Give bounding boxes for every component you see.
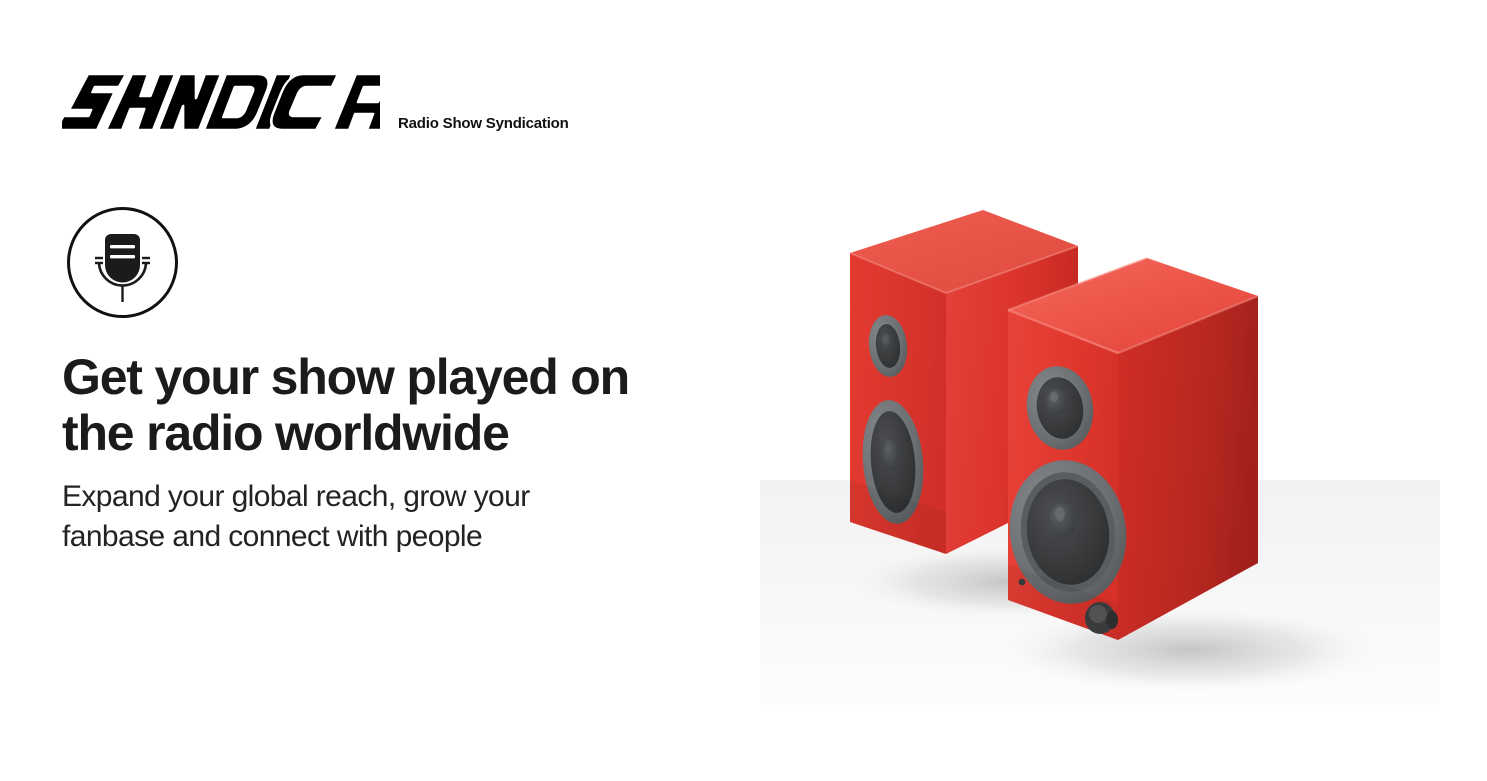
speaker-front (1001, 258, 1258, 640)
shadow-front (985, 604, 1395, 696)
microphone-icon (66, 206, 179, 319)
hero-subcopy-line-1: Expand your global reach, grow your (62, 480, 530, 513)
hero-headline-line-1: Get your show played on (62, 349, 629, 405)
hero-subcopy: Expand your global reach, grow your fanb… (62, 477, 662, 557)
hero-headline-line-2: the radio worldwide (62, 405, 509, 461)
syndicast-logo[interactable] (62, 66, 380, 138)
hero-headline: Get your show played on the radio worldw… (62, 349, 702, 461)
brand-lockup[interactable]: Radio Show Syndication (62, 66, 569, 138)
microphone-badge (66, 206, 179, 319)
brand-tagline: Radio Show Syndication (398, 115, 569, 132)
speakers-image (760, 150, 1440, 710)
hero-page: Radio Show Syndication Get your show pla… (0, 0, 1487, 781)
hero-subcopy-line-2: fanbase and connect with people (62, 520, 482, 553)
